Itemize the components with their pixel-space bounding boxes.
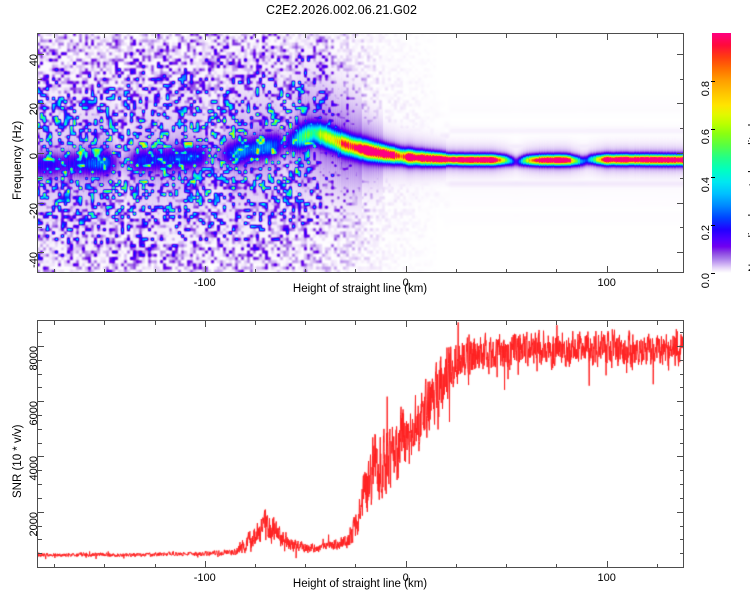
axis-tick bbox=[38, 567, 42, 568]
axis-tick bbox=[456, 564, 457, 568]
axis-tick-label: 20 bbox=[28, 103, 40, 115]
axis-tick bbox=[355, 321, 356, 325]
axis-tick bbox=[104, 269, 105, 273]
colorbar-gradient bbox=[712, 33, 731, 273]
axis-tick bbox=[38, 79, 42, 80]
figure-title: C2E2.2026.002.06.21.G02 bbox=[0, 3, 683, 17]
colorbar-tick-label: 0.2 bbox=[700, 225, 712, 240]
axis-tick bbox=[677, 153, 683, 154]
axis-tick bbox=[677, 103, 683, 104]
axis-tick bbox=[38, 498, 42, 499]
axis-tick bbox=[104, 321, 105, 325]
axis-tick bbox=[155, 564, 156, 568]
axis-tick bbox=[680, 526, 684, 527]
axis-tick bbox=[680, 360, 684, 361]
axis-tick bbox=[305, 564, 306, 568]
axis-tick bbox=[680, 79, 684, 80]
axis-tick bbox=[556, 564, 557, 568]
axis-tick bbox=[677, 54, 683, 55]
axis-tick bbox=[677, 512, 683, 513]
axis-tick bbox=[556, 34, 557, 38]
axis-tick-label: 6000 bbox=[28, 401, 40, 425]
axis-tick bbox=[305, 34, 306, 38]
spectrogram-plot-area bbox=[37, 33, 684, 273]
axis-tick bbox=[38, 539, 42, 540]
axis-tick-label: 2000 bbox=[28, 512, 40, 536]
axis-tick-label: -100 bbox=[194, 277, 216, 289]
spectrogram-x-axis-label: Height of straight line (km) bbox=[293, 283, 427, 295]
spectrogram-image bbox=[38, 34, 683, 272]
axis-tick-label: 0 bbox=[28, 153, 40, 159]
axis-tick bbox=[680, 498, 684, 499]
axis-tick bbox=[355, 269, 356, 273]
axis-tick bbox=[54, 34, 55, 38]
axis-tick bbox=[607, 34, 608, 40]
axis-tick bbox=[677, 203, 683, 204]
snr-y-axis-label: SNR (10 * v/v) bbox=[12, 425, 24, 499]
snr-plot-area bbox=[37, 320, 684, 568]
axis-tick bbox=[680, 539, 684, 540]
axis-tick bbox=[657, 34, 658, 38]
axis-tick bbox=[456, 34, 457, 38]
axis-tick bbox=[677, 346, 683, 347]
axis-tick bbox=[104, 564, 105, 568]
axis-tick bbox=[155, 34, 156, 38]
axis-tick-label: 40 bbox=[28, 54, 40, 66]
axis-tick bbox=[607, 321, 608, 327]
axis-tick bbox=[680, 470, 684, 471]
axis-tick bbox=[255, 269, 256, 273]
axis-tick-label: 4000 bbox=[28, 456, 40, 480]
axis-tick bbox=[355, 564, 356, 568]
axis-tick bbox=[38, 443, 42, 444]
axis-tick bbox=[205, 34, 206, 40]
axis-tick bbox=[680, 178, 684, 179]
axis-tick bbox=[680, 332, 684, 333]
colorbar-tick-label: 0.0 bbox=[700, 273, 712, 288]
axis-tick bbox=[54, 321, 55, 325]
axis-tick bbox=[155, 321, 156, 325]
axis-tick bbox=[556, 269, 557, 273]
colorbar-tick-label: 0.4 bbox=[700, 177, 712, 192]
axis-tick bbox=[38, 387, 42, 388]
axis-tick-label: -40 bbox=[28, 252, 40, 268]
axis-tick bbox=[406, 561, 407, 567]
axis-tick bbox=[406, 34, 407, 40]
axis-tick-label: -20 bbox=[28, 203, 40, 219]
axis-tick bbox=[38, 332, 42, 333]
colorbar-tick-label: 0.8 bbox=[700, 81, 712, 96]
axis-tick bbox=[406, 266, 407, 272]
axis-tick bbox=[38, 178, 42, 179]
axis-tick bbox=[677, 401, 683, 402]
axis-tick bbox=[54, 564, 55, 568]
axis-tick-label: 100 bbox=[597, 572, 615, 584]
spectrogram-y-axis-label: Frequency (Hz) bbox=[12, 121, 24, 200]
axis-tick bbox=[680, 387, 684, 388]
colorbar-tick-label: 0.6 bbox=[700, 129, 712, 144]
axis-tick bbox=[406, 321, 407, 327]
axis-tick bbox=[255, 321, 256, 325]
axis-tick bbox=[38, 227, 42, 228]
axis-tick bbox=[38, 484, 42, 485]
axis-tick bbox=[680, 374, 684, 375]
figure-canvas: C2E2.2026.002.06.21.G02 -1000100 40200-2… bbox=[0, 0, 750, 600]
axis-tick bbox=[255, 564, 256, 568]
axis-tick bbox=[305, 269, 306, 273]
axis-tick bbox=[38, 128, 42, 129]
axis-tick bbox=[680, 227, 684, 228]
axis-tick bbox=[506, 269, 507, 273]
axis-tick bbox=[54, 269, 55, 273]
axis-tick bbox=[506, 564, 507, 568]
axis-tick-label: -100 bbox=[194, 572, 216, 584]
axis-tick bbox=[355, 34, 356, 38]
axis-tick bbox=[680, 128, 684, 129]
axis-tick bbox=[155, 269, 156, 273]
axis-tick bbox=[506, 321, 507, 325]
axis-tick bbox=[38, 553, 42, 554]
axis-tick-label: 8000 bbox=[28, 346, 40, 370]
axis-tick bbox=[556, 321, 557, 325]
axis-tick bbox=[680, 484, 684, 485]
axis-tick bbox=[456, 321, 457, 325]
axis-tick bbox=[677, 456, 683, 457]
axis-tick bbox=[506, 34, 507, 38]
axis-tick bbox=[657, 321, 658, 325]
axis-tick bbox=[657, 269, 658, 273]
snr-line-trace bbox=[38, 321, 683, 567]
axis-tick bbox=[657, 564, 658, 568]
axis-tick bbox=[305, 321, 306, 325]
axis-tick bbox=[205, 266, 206, 272]
axis-tick bbox=[680, 553, 684, 554]
axis-tick bbox=[205, 561, 206, 567]
axis-tick bbox=[456, 269, 457, 273]
colorbar bbox=[712, 33, 731, 273]
axis-tick-label: 100 bbox=[597, 277, 615, 289]
axis-tick bbox=[680, 415, 684, 416]
axis-tick bbox=[680, 443, 684, 444]
axis-tick bbox=[677, 252, 683, 253]
axis-tick bbox=[607, 561, 608, 567]
axis-tick bbox=[680, 429, 684, 430]
axis-tick bbox=[680, 567, 684, 568]
axis-tick bbox=[255, 34, 256, 38]
axis-tick bbox=[104, 34, 105, 38]
axis-tick bbox=[38, 429, 42, 430]
axis-tick bbox=[38, 374, 42, 375]
axis-tick bbox=[607, 266, 608, 272]
snr-x-axis-label: Height of straight line (km) bbox=[293, 578, 427, 590]
axis-tick bbox=[205, 321, 206, 327]
